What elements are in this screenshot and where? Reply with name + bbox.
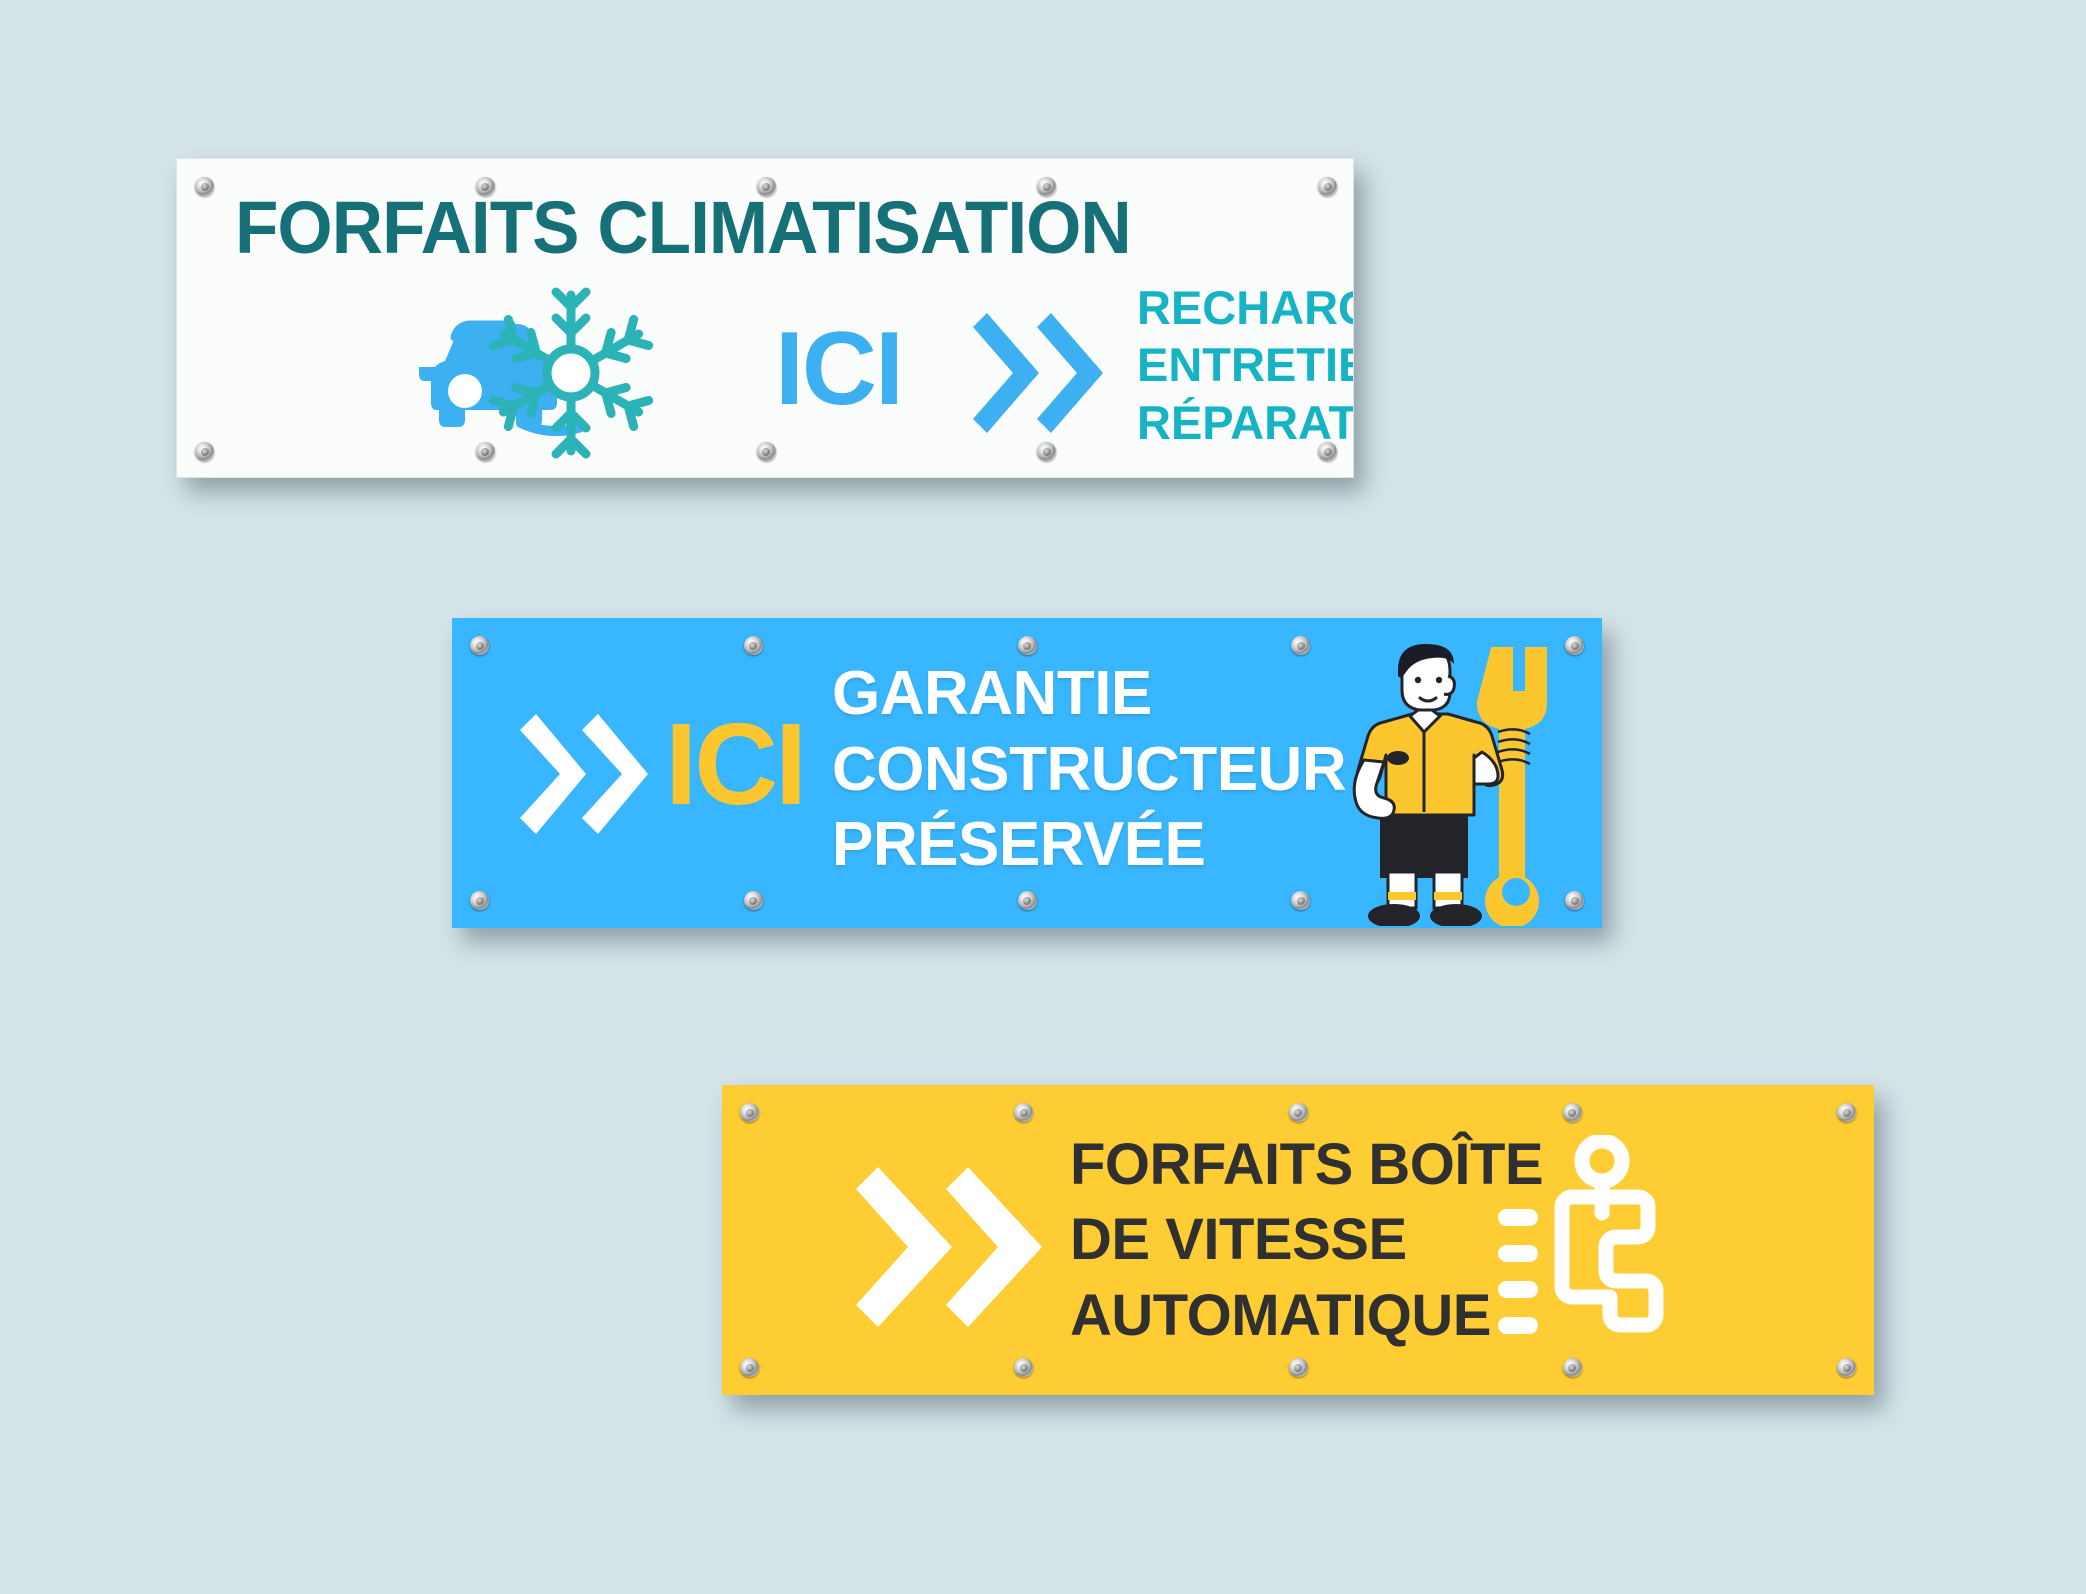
grommet-eyelet — [744, 891, 763, 910]
grommet-eyelet — [740, 1103, 759, 1122]
garantie-constructeur-banner[interactable]: ICI GARANTIE CONSTRUCTEUR PRÉSERVÉE — [452, 618, 1602, 928]
service-item-recharge: RECHARGE — [1137, 279, 1353, 336]
grommet-eyelet — [1318, 177, 1337, 196]
grommet-eyelet — [1837, 1103, 1856, 1122]
gear-shifter-icon — [1492, 1135, 1712, 1345]
gearbox-line-2: DE VITESSE — [1070, 1202, 1543, 1277]
grommet-eyelet — [195, 177, 214, 196]
double-chevron-right-icon — [967, 311, 1107, 435]
warranty-line-1: GARANTIE — [832, 656, 1346, 732]
mechanic-with-wrench-icon — [1322, 640, 1592, 926]
banner-face: FORFAITS BOÎTE DE VITESSE AUTOMATIQUE — [722, 1085, 1874, 1395]
grommet-eyelet — [1289, 1103, 1308, 1122]
grommet-eyelet — [470, 891, 489, 910]
banner-face: FORFAITS CLIMATISATION — [177, 159, 1353, 477]
grommet-eyelet — [757, 442, 776, 461]
forfaits-boite-automatique-banner[interactable]: FORFAITS BOÎTE DE VITESSE AUTOMATIQUE — [722, 1085, 1874, 1395]
grommet-eyelet — [476, 442, 495, 461]
grommet-eyelet — [1014, 1358, 1033, 1377]
grommet-eyelet — [1563, 1103, 1582, 1122]
grommet-eyelet — [1291, 636, 1310, 655]
forfaits-climatisation-banner[interactable]: FORFAITS CLIMATISATION — [176, 158, 1354, 478]
warranty-line-3: PRÉSERVÉE — [832, 807, 1346, 883]
grommet-eyelet — [744, 636, 763, 655]
grommet-eyelet — [1018, 891, 1037, 910]
grommet-eyelet — [1318, 442, 1337, 461]
page-title: FORFAITS CLIMATISATION — [235, 185, 1131, 270]
gearbox-line-3: AUTOMATIQUE — [1070, 1278, 1543, 1353]
service-item-entretien: ENTRETIEN — [1137, 336, 1353, 393]
warranty-text-block: GARANTIE CONSTRUCTEUR PRÉSERVÉE — [832, 656, 1346, 883]
grommet-eyelet — [1565, 891, 1584, 910]
grommet-eyelet — [1014, 1103, 1033, 1122]
grommet-eyelet — [740, 1358, 759, 1377]
grommet-eyelet — [195, 442, 214, 461]
gearbox-line-1: FORFAITS BOÎTE — [1070, 1127, 1543, 1202]
grommet-eyelet — [1037, 442, 1056, 461]
car-snowflake-icon — [403, 287, 673, 462]
double-chevron-right-icon — [852, 1167, 1042, 1327]
services-list: RECHARGE ENTRETIEN RÉPARATION — [1137, 279, 1353, 451]
grommet-eyelet — [470, 636, 489, 655]
grommet-eyelet — [1018, 636, 1037, 655]
grommet-eyelet — [1291, 891, 1310, 910]
banner-face: ICI GARANTIE CONSTRUCTEUR PRÉSERVÉE — [452, 618, 1602, 928]
warranty-line-2: CONSTRUCTEUR — [832, 732, 1346, 808]
service-item-reparation: RÉPARATION — [1137, 394, 1353, 451]
grommet-eyelet — [1563, 1358, 1582, 1377]
here-label: ICI — [665, 706, 804, 822]
grommet-eyelet — [1565, 636, 1584, 655]
grommet-eyelet — [1837, 1358, 1856, 1377]
gearbox-text-block: FORFAITS BOÎTE DE VITESSE AUTOMATIQUE — [1070, 1127, 1543, 1353]
banner-showcase: FORFAITS CLIMATISATION — [0, 0, 2086, 1594]
grommet-eyelet — [757, 177, 776, 196]
grommet-eyelet — [1289, 1358, 1308, 1377]
grommet-eyelet — [476, 177, 495, 196]
double-chevron-right-icon — [516, 714, 648, 834]
here-label: ICI — [775, 317, 902, 421]
